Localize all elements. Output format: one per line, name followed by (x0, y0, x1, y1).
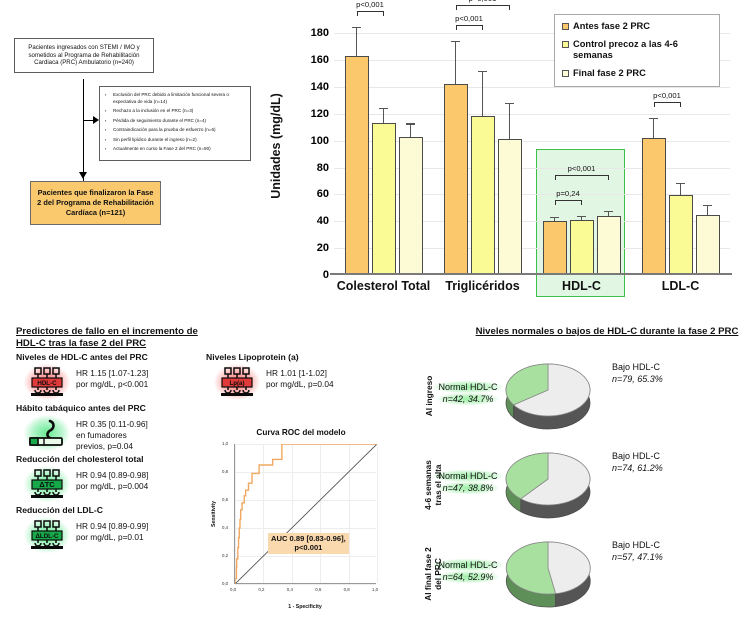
svg-text:Lp(a): Lp(a) (229, 380, 244, 387)
roc-y-tick: 0,4 (222, 525, 228, 530)
y-axis-tick: 100 (311, 135, 329, 147)
exclusion-item: Exclusión del PRC debido a limitación fu… (104, 92, 246, 106)
predictor-stat: HR 1.01 [1-1.02]por mg/dL, p=0.04 (266, 364, 334, 390)
p-value-label: p<0,001 (568, 164, 596, 173)
gridline (334, 275, 730, 276)
p-value-label: p<0,001 (455, 14, 483, 23)
predictor-stat: HR 1.15 [1.07-1.23]por mg/dL, p<0.001 (76, 364, 148, 390)
bar (570, 220, 594, 275)
predictors-right-column: Niveles Lipoprotein (a)Lp(a)HR 1.01 [1-1… (206, 352, 396, 403)
pie-normal-stat: n=64, 52.9% (438, 571, 499, 583)
x-axis-category-label: Triglicéridos (433, 279, 532, 293)
hdl-pie-section: Niveles normales o bajos de HDL-C durant… (424, 326, 750, 628)
legend-item: Final fase 2 PRC (562, 68, 712, 79)
legend-label: Final fase 2 PRC (573, 68, 646, 79)
roc-y-tick: 0,0 (222, 581, 228, 586)
roc-x-tick: 0,0 (230, 587, 236, 592)
exclusion-item: Actualmente en curso la Fase 2 del PRC (… (104, 146, 246, 153)
predictor-icon: ΔTC (24, 466, 70, 502)
error-bar-cap (703, 205, 712, 206)
predictor-item: Niveles Lipoprotein (a)Lp(a)HR 1.01 [1-1… (206, 352, 396, 400)
predictor-icon: ΔLDL-C (24, 517, 70, 553)
study-flowchart: Pacientes ingresados con STEMI / IMO y s… (0, 0, 280, 300)
bar (597, 216, 621, 275)
bar (399, 137, 423, 275)
roc-gridline (235, 584, 376, 585)
pie-low-stat: n=79, 65.3% (612, 374, 663, 384)
pie-low-title: Bajo HDL-C (612, 362, 660, 372)
bar (669, 195, 693, 275)
svg-text:ΔTC: ΔTC (39, 480, 55, 489)
exclusion-item: Sin perfil lipídico durante el ingreso (… (104, 137, 246, 144)
bar (444, 84, 468, 275)
predictor-icon: Lp(a) (214, 364, 260, 400)
chart-legend: Antes fase 2 PRCControl precoz a las 4-6… (554, 14, 720, 87)
legend-swatch (562, 70, 569, 77)
pie-normal-label: Normal HDL-Cn=47, 38.8% (433, 471, 502, 494)
p-value-label: p=0,001 (469, 0, 497, 3)
roc-y-tick: 0,2 (222, 553, 228, 558)
legend-swatch (562, 23, 569, 30)
lab-rack-icon: HDL-C (24, 364, 70, 400)
roc-title: Curva ROC del modelo (206, 428, 396, 437)
error-bar-cap (379, 108, 388, 109)
pie-block: 4-6 semanastras el altaBajo HDL-Cn=74, 6… (424, 443, 750, 527)
bar (471, 116, 495, 275)
y-axis-tick: 140 (311, 81, 329, 93)
legend-label: Control precoz a las 4-6 semanas (573, 39, 712, 61)
roc-x-axis-label: 1 - Specificity (288, 604, 321, 610)
error-bar (482, 71, 483, 115)
error-bar-cap (505, 103, 514, 104)
x-axis-category-label: LDL-C (631, 279, 730, 293)
predictor-heading: Niveles de HDL-C antes del PRC (16, 352, 208, 362)
legend-label: Antes fase 2 PRC (573, 21, 650, 32)
pie-normal-label: Normal HDL-Cn=64, 52.9% (433, 560, 502, 583)
pie-3d (488, 532, 608, 616)
pie-normal-stat: n=47, 38.8% (438, 482, 499, 494)
error-bar (653, 118, 654, 138)
roc-plot-area: 0,00,00,20,20,40,40,60,60,80,81,01,0 (234, 444, 376, 584)
lipid-profile-bar-chart: Unidades (mg/dL) 02040608010012014016018… (282, 6, 750, 314)
pie-low-title: Bajo HDL-C (612, 451, 660, 461)
error-bar (455, 41, 456, 85)
svg-text:ΔLDL-C: ΔLDL-C (35, 533, 59, 540)
roc-y-tick: 1,0 (222, 441, 228, 446)
predictor-stat: HR 0.94 [0.89-0.99]por mg/dL, p=0.01 (76, 517, 148, 543)
significance-bracket (555, 175, 609, 180)
bar (498, 139, 522, 275)
predictor-item: Reducción del LDL-CΔLDL-CHR 0.94 [0.89-0… (16, 505, 208, 553)
error-bar-cap (478, 71, 487, 72)
flowchart-final-box: Pacientes que finalizaron la Fase 2 del … (30, 181, 161, 225)
exclusion-item: Rechazo a la inclusión en el PRC (n=3) (104, 108, 246, 115)
p-value-label: p<0,001 (356, 0, 384, 9)
error-bar-cap (352, 27, 361, 28)
roc-x-tick: 0,6 (315, 587, 321, 592)
roc-x-tick: 1,0 (372, 587, 378, 592)
legend-swatch (562, 41, 569, 48)
flowchart-exclusions-box: Exclusión del PRC debido a limitación fu… (99, 86, 251, 161)
predictors-left-column: Niveles de HDL-C antes del PRCHDL-CHR 1.… (16, 352, 208, 556)
roc-gridline (377, 444, 378, 583)
x-axis-category-label: Colesterol Total (334, 279, 433, 293)
error-bar-cap (676, 183, 685, 184)
pie-low-label: Bajo HDL-Cn=57, 47.1% (612, 540, 663, 563)
legend-item: Control precoz a las 4-6 semanas (562, 39, 712, 61)
pie-low-label: Bajo HDL-Cn=79, 65.3% (612, 362, 663, 385)
significance-bracket (456, 5, 510, 10)
predictor-item: Reducción del cholesterol totalΔTCHR 0.9… (16, 454, 208, 502)
lab-rack-icon: ΔTC (24, 466, 70, 502)
predictor-heading: Reducción del cholesterol total (16, 454, 208, 464)
bar (543, 221, 567, 275)
y-axis-tick: 40 (317, 215, 329, 227)
error-bar (509, 103, 510, 139)
significance-bracket (456, 25, 483, 30)
pie-normal-title: Normal HDL-C (433, 470, 502, 482)
y-axis-tick: 20 (317, 242, 329, 254)
exclusion-list: Exclusión del PRC debido a limitación fu… (104, 92, 246, 153)
y-axis-tick: 0 (323, 269, 329, 281)
pie-low-title: Bajo HDL-C (612, 540, 660, 550)
pie-low-stat: n=74, 61.2% (612, 463, 663, 473)
pie-chart (488, 532, 608, 616)
lab-rack-icon: ΔLDL-C (24, 517, 70, 553)
svg-text:HDL-C: HDL-C (37, 380, 57, 387)
exclusion-item: Contraindicación para la prueba de esfue… (104, 127, 246, 134)
pie-block: Al final fase 2del PRCBajo HDL-Cn=57, 47… (424, 532, 750, 616)
roc-y-axis-label: Sensitivity (211, 501, 217, 527)
roc-y-tick: 0,8 (222, 469, 228, 474)
error-bar-cap (649, 118, 658, 119)
y-axis-tick: 160 (311, 54, 329, 66)
pie-3d (488, 443, 608, 527)
predictor-icon (24, 415, 70, 451)
error-bar (707, 205, 708, 215)
pie-low-stat: n=57, 47.1% (612, 552, 663, 562)
significance-bracket (357, 11, 384, 16)
arrow-down-icon (79, 172, 87, 179)
pie-normal-title: Normal HDL-C (433, 381, 502, 393)
pie-normal-title: Normal HDL-C (433, 559, 502, 571)
p-value-label: p<0,001 (653, 91, 681, 100)
predictors-title: Predictores de fallo en el incremento de… (16, 326, 216, 350)
significance-bracket (654, 102, 681, 107)
bar (372, 123, 396, 275)
significance-bracket (555, 200, 582, 205)
y-axis-label: Unidades (mg/dL) (269, 93, 283, 199)
predictor-icon: HDL-C (24, 364, 70, 400)
predictor-heading: Hábito tabáquico antes del PRC (16, 403, 208, 413)
roc-curve-chart: Curva ROC del modelo Sensitivity 1 - Spe… (206, 428, 396, 624)
x-axis-category-label: HDL-C (532, 279, 631, 293)
error-bar (356, 27, 357, 57)
pies-title: Niveles normales o bajos de HDL-C durant… (464, 326, 750, 338)
p-value-label: p=0,24 (556, 189, 579, 198)
predictors-section: Predictores de fallo en el incremento de… (16, 326, 216, 626)
legend-item: Antes fase 2 PRC (562, 21, 712, 32)
pie-3d (488, 354, 608, 438)
error-bar-cap (604, 211, 613, 212)
bar (696, 215, 720, 275)
predictor-stat: HR 0.94 [0.89-0.98]por mg/dL, p=0.004 (76, 466, 148, 492)
error-bar (680, 183, 681, 195)
roc-x-tick: 0,2 (258, 587, 264, 592)
error-bar (410, 123, 411, 137)
y-axis-tick: 80 (317, 162, 329, 174)
roc-x-tick: 0,8 (344, 587, 350, 592)
cigarette-icon (24, 415, 70, 451)
bar (345, 56, 369, 275)
pie-normal-label: Normal HDL-Cn=42, 34.7% (433, 382, 502, 405)
x-axis-line (330, 273, 732, 275)
roc-y-tick: 0,6 (222, 497, 228, 502)
bar (642, 138, 666, 275)
pie-normal-stat: n=42, 34.7% (438, 393, 499, 405)
lab-rack-icon: Lp(a) (214, 364, 260, 400)
predictor-item: Hábito tabáquico antes del PRCHR 0.35 [0… (16, 403, 208, 451)
predictor-heading: Niveles Lipoprotein (a) (206, 352, 396, 362)
y-axis-tick: 180 (311, 27, 329, 39)
roc-x-tick: 0,4 (287, 587, 293, 592)
exclusion-item: Pérdida de seguimiento durante el PRC (n… (104, 118, 246, 125)
error-bar-cap (406, 123, 415, 124)
pie-chart (488, 354, 608, 438)
y-axis-tick: 120 (311, 108, 329, 120)
auc-badge: AUC 0.89 [0.83-0.96],p<0.001 (268, 533, 349, 554)
pie-block: Al ingresoBajo HDL-Cn=79, 65.3%Normal HD… (424, 354, 750, 438)
pie-chart (488, 443, 608, 527)
predictor-item: Niveles de HDL-C antes del PRCHDL-CHR 1.… (16, 352, 208, 400)
flowchart-top-box: Pacientes ingresados con STEMI / IMO y s… (14, 38, 154, 73)
roc-curve (235, 444, 377, 584)
pie-low-label: Bajo HDL-Cn=74, 61.2% (612, 451, 663, 474)
error-bar (383, 108, 384, 123)
error-bar-cap (577, 216, 586, 217)
predictor-stat: HR 0.35 [0.11-0.96]en fumadoresprevios, … (76, 415, 148, 451)
predictor-heading: Reducción del LDL-C (16, 505, 208, 515)
y-axis-tick: 60 (317, 188, 329, 200)
error-bar-cap (451, 41, 460, 42)
error-bar-cap (550, 217, 559, 218)
